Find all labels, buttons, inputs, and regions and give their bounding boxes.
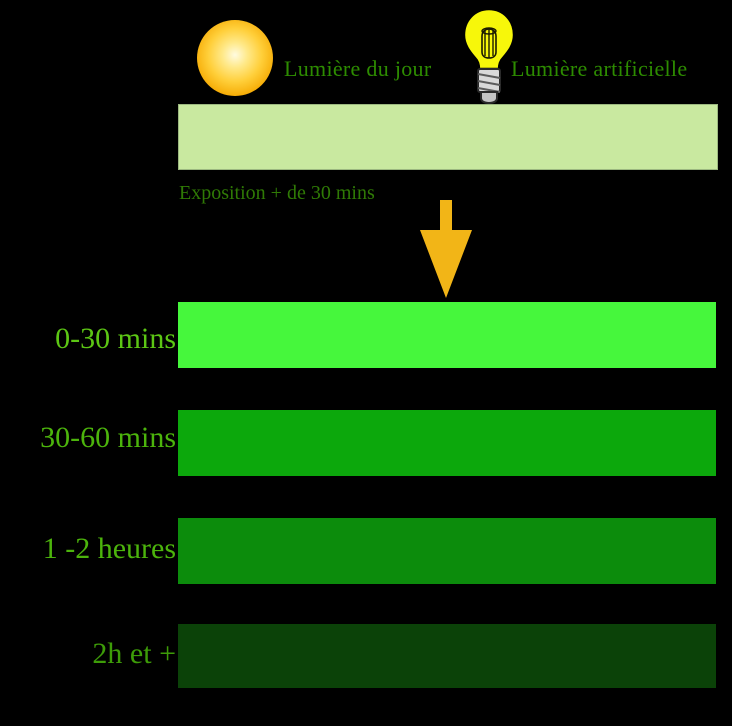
sun-disc bbox=[197, 20, 273, 96]
scale-label-1-2-heures: 1 -2 heures bbox=[43, 532, 176, 566]
infographic-canvas: Lumière du jour Lumière artificielle Exp… bbox=[0, 0, 732, 726]
scale-bar-1-2-heures bbox=[178, 518, 716, 584]
exposure-caption: Exposition + de 30 mins bbox=[179, 182, 375, 205]
arrow-down-shape bbox=[420, 200, 472, 298]
arrow-down-svg bbox=[418, 200, 474, 298]
arrow-down-icon bbox=[418, 200, 474, 298]
scale-label-2h-plus: 2h et + bbox=[92, 637, 176, 671]
artificial-light-label: Lumière artificielle bbox=[511, 56, 687, 82]
scale-label-30-60-mins: 30-60 mins bbox=[40, 421, 176, 455]
scale-label-0-30-mins: 0-30 mins bbox=[55, 322, 176, 356]
exposure-bar bbox=[178, 104, 718, 170]
daylight-label: Lumière du jour bbox=[284, 56, 431, 82]
scale-bar-2h-plus bbox=[178, 624, 716, 688]
sun-icon bbox=[186, 9, 284, 107]
scale-bar-30-60-mins bbox=[178, 410, 716, 476]
scale-bar-0-30-mins bbox=[178, 302, 716, 368]
